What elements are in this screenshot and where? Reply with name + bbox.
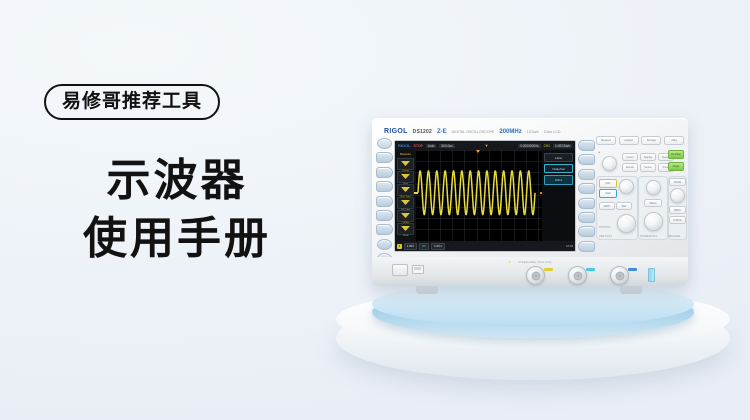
volts-div-readout: 1.00V — [404, 243, 417, 250]
display-status-bar: RIGOL STOP Auto 500.0us ▼ 0.00000000s CH… — [395, 141, 575, 150]
timebase-readout: 500.0us — [439, 144, 454, 148]
fall-time-icon — [401, 200, 410, 205]
horizontal-menu-button[interactable]: MENU — [644, 199, 662, 207]
model-number: DS1202 — [413, 129, 432, 135]
side-usb-device-port[interactable] — [648, 268, 655, 282]
math-button[interactable]: MATH — [599, 202, 615, 210]
page-title: 示波器 使用手册 — [52, 152, 302, 268]
bnc-label-ch2 — [586, 268, 595, 271]
display-side-menu[interactable]: Label Delay/Cal 100ns — [542, 150, 575, 241]
left-softkey-6[interactable] — [376, 224, 393, 235]
spec-samplerate: 1GSa/s — [527, 130, 539, 134]
vertical-position-knob[interactable] — [619, 179, 634, 194]
utility-button[interactable]: Utility — [664, 136, 684, 145]
trigger-level-knob[interactable] — [670, 188, 685, 203]
measure-button[interactable]: Measure — [596, 136, 616, 145]
delay-readout: 0.00000000s — [518, 144, 540, 148]
bnc-label-ext — [628, 268, 637, 271]
right-softkey-6[interactable] — [578, 226, 595, 237]
freq-icon — [401, 174, 410, 179]
side-menu-item-delay-cal[interactable]: Delay/Cal — [544, 164, 573, 173]
ch1-button[interactable]: CH1 — [599, 179, 617, 188]
display-button[interactable]: Display — [640, 153, 656, 161]
right-bezel-softkeys — [578, 140, 593, 255]
vertical-scale-knob[interactable] — [617, 214, 636, 233]
side-menu-item-value[interactable]: 100ns — [544, 175, 573, 184]
right-nav-down-button[interactable] — [578, 241, 595, 252]
probe-ratio-readout: 1.00:1 — [431, 243, 445, 250]
rise-time-icon — [401, 187, 410, 192]
spec-bandwidth: 200MHz — [499, 129, 521, 135]
trigger-section-label: TRIGGER — [668, 235, 680, 238]
function-button-grid: Cursor Display Record Decode Source Pres… — [622, 153, 674, 172]
multifunction-knob-label: ◉ — [598, 151, 600, 154]
measure-item-fall-time[interactable]: Fall Time — [397, 197, 414, 209]
left-softkey-5[interactable] — [376, 210, 393, 221]
cursor-button[interactable]: Cursor — [622, 153, 638, 161]
horizontal-position-knob[interactable] — [646, 180, 661, 195]
model-suffix: Z-E — [437, 129, 447, 135]
coupling-readout: DC — [419, 243, 429, 250]
bnc-label-ch1 — [544, 268, 553, 271]
brand-logo: RIGOL — [384, 128, 408, 135]
left-menu-button[interactable] — [377, 138, 392, 149]
run-stop-button[interactable]: Run/Stop — [668, 150, 684, 159]
left-softkey-1[interactable] — [376, 152, 393, 163]
vertical-section-label: VERTICAL — [599, 235, 612, 238]
horizontal-scale-knob[interactable] — [644, 212, 663, 231]
single-button[interactable]: Single — [668, 162, 684, 171]
run-control-group: Run/Stop Single — [668, 150, 684, 173]
source-button[interactable]: Source — [640, 163, 656, 171]
left-nav-up-button[interactable] — [377, 239, 392, 250]
scope-display[interactable]: RIGOL STOP Auto 500.0us ▼ 0.00000000s CH… — [394, 140, 576, 252]
waveform-trace — [416, 150, 542, 241]
warning-icon: ⚠ — [508, 260, 511, 264]
trigger-position-arrow: ▼ — [484, 143, 488, 148]
scope-chassis: RIGOL DS1202 Z-E DIGITAL OSCILLOSCOPE 20… — [372, 118, 688, 286]
run-status-indicator: STOP — [414, 144, 423, 148]
ch2-button[interactable]: CH2 — [599, 189, 617, 198]
poster-canvas: 易修哥推荐工具 示波器 使用手册 RIGOL DS1202 Z-E DIGITA… — [0, 0, 750, 420]
measure-item-label: -Width — [398, 235, 413, 237]
neg-width-icon — [401, 226, 410, 231]
display-measure-menu[interactable]: Measure Period Freq Rise Time — [395, 150, 416, 241]
left-softkey-4[interactable] — [376, 196, 393, 207]
trigger-force-button[interactable]: FORCE — [669, 216, 686, 224]
measure-menu-header: Measure — [400, 152, 411, 156]
bnc-connector-ext[interactable] — [610, 266, 629, 285]
spec-display: Color LCD — [544, 130, 561, 134]
right-softkey-3[interactable] — [578, 183, 595, 194]
vertical-position-label: POSITION — [599, 226, 610, 229]
measure-item-neg-width[interactable]: -Width — [397, 223, 414, 235]
period-icon — [401, 161, 410, 166]
bnc-connector-ch2[interactable] — [568, 266, 587, 285]
left-softkey-2[interactable] — [376, 167, 393, 178]
right-softkey-1[interactable] — [578, 154, 595, 165]
brand-subtitle: DIGITAL OSCILLOSCOPE — [452, 130, 495, 134]
measure-item-rise-time[interactable]: Rise Time — [397, 184, 414, 196]
trigger-menu-button[interactable]: MENU — [669, 206, 686, 214]
left-bezel-softkeys — [376, 138, 391, 268]
trigger-mode-chip: Auto — [426, 144, 437, 148]
bottom-channel-tag: 1 — [397, 244, 402, 249]
ref-button[interactable]: REF — [616, 202, 632, 210]
storage-button[interactable]: Storage — [641, 136, 661, 145]
front-control-panel: Measure Acquire Storage Utility ◉ Cursor… — [596, 136, 684, 254]
oscilloscope: RIGOL DS1202 Z-E DIGITAL OSCILLOSCOPE 20… — [372, 118, 688, 294]
right-nav-up-button[interactable] — [578, 140, 595, 151]
top-function-row: Measure Acquire Storage Utility — [596, 136, 684, 145]
bnc-connector-ch1[interactable] — [526, 266, 545, 285]
right-softkey-5[interactable] — [578, 212, 595, 223]
measure-item-freq[interactable]: Freq — [397, 171, 414, 183]
badge-recommended-tool: 易修哥推荐工具 — [44, 84, 220, 120]
side-menu-item-label[interactable]: Label — [544, 153, 573, 162]
measure-item-period[interactable]: Period — [397, 158, 414, 170]
decode-button[interactable]: Decode — [622, 163, 638, 171]
left-softkey-3[interactable] — [376, 181, 393, 192]
probe-comp-note: 3V Square Wave / Probe Comp — [518, 261, 551, 264]
right-softkey-4[interactable] — [578, 198, 595, 209]
measure-item-pos-width[interactable]: +Width — [397, 210, 414, 222]
page-title-line2: 使用手册 — [52, 210, 302, 268]
page-title-line1: 示波器 — [107, 156, 248, 205]
power-button[interactable] — [392, 264, 408, 276]
multifunction-knob[interactable] — [602, 156, 617, 171]
right-softkey-2[interactable] — [578, 169, 595, 180]
clock-readout: 16:36 — [566, 244, 573, 248]
waveform-graticule — [416, 150, 542, 241]
horizontal-section-label: HORIZONTAL — [640, 235, 657, 238]
acquire-button[interactable]: Acquire — [619, 136, 639, 145]
samplerate-readout: 1.00GSa/s — [553, 144, 572, 148]
pos-width-icon — [401, 213, 410, 218]
trigger-mode-button[interactable]: MODE — [669, 178, 686, 186]
usb-host-port[interactable] — [412, 265, 424, 274]
channel-badge: CH1 — [544, 144, 550, 148]
display-logo: RIGOL — [398, 143, 411, 148]
display-bottom-bar: 1 1.00V DC 1.00:1 16:36 — [395, 241, 575, 251]
